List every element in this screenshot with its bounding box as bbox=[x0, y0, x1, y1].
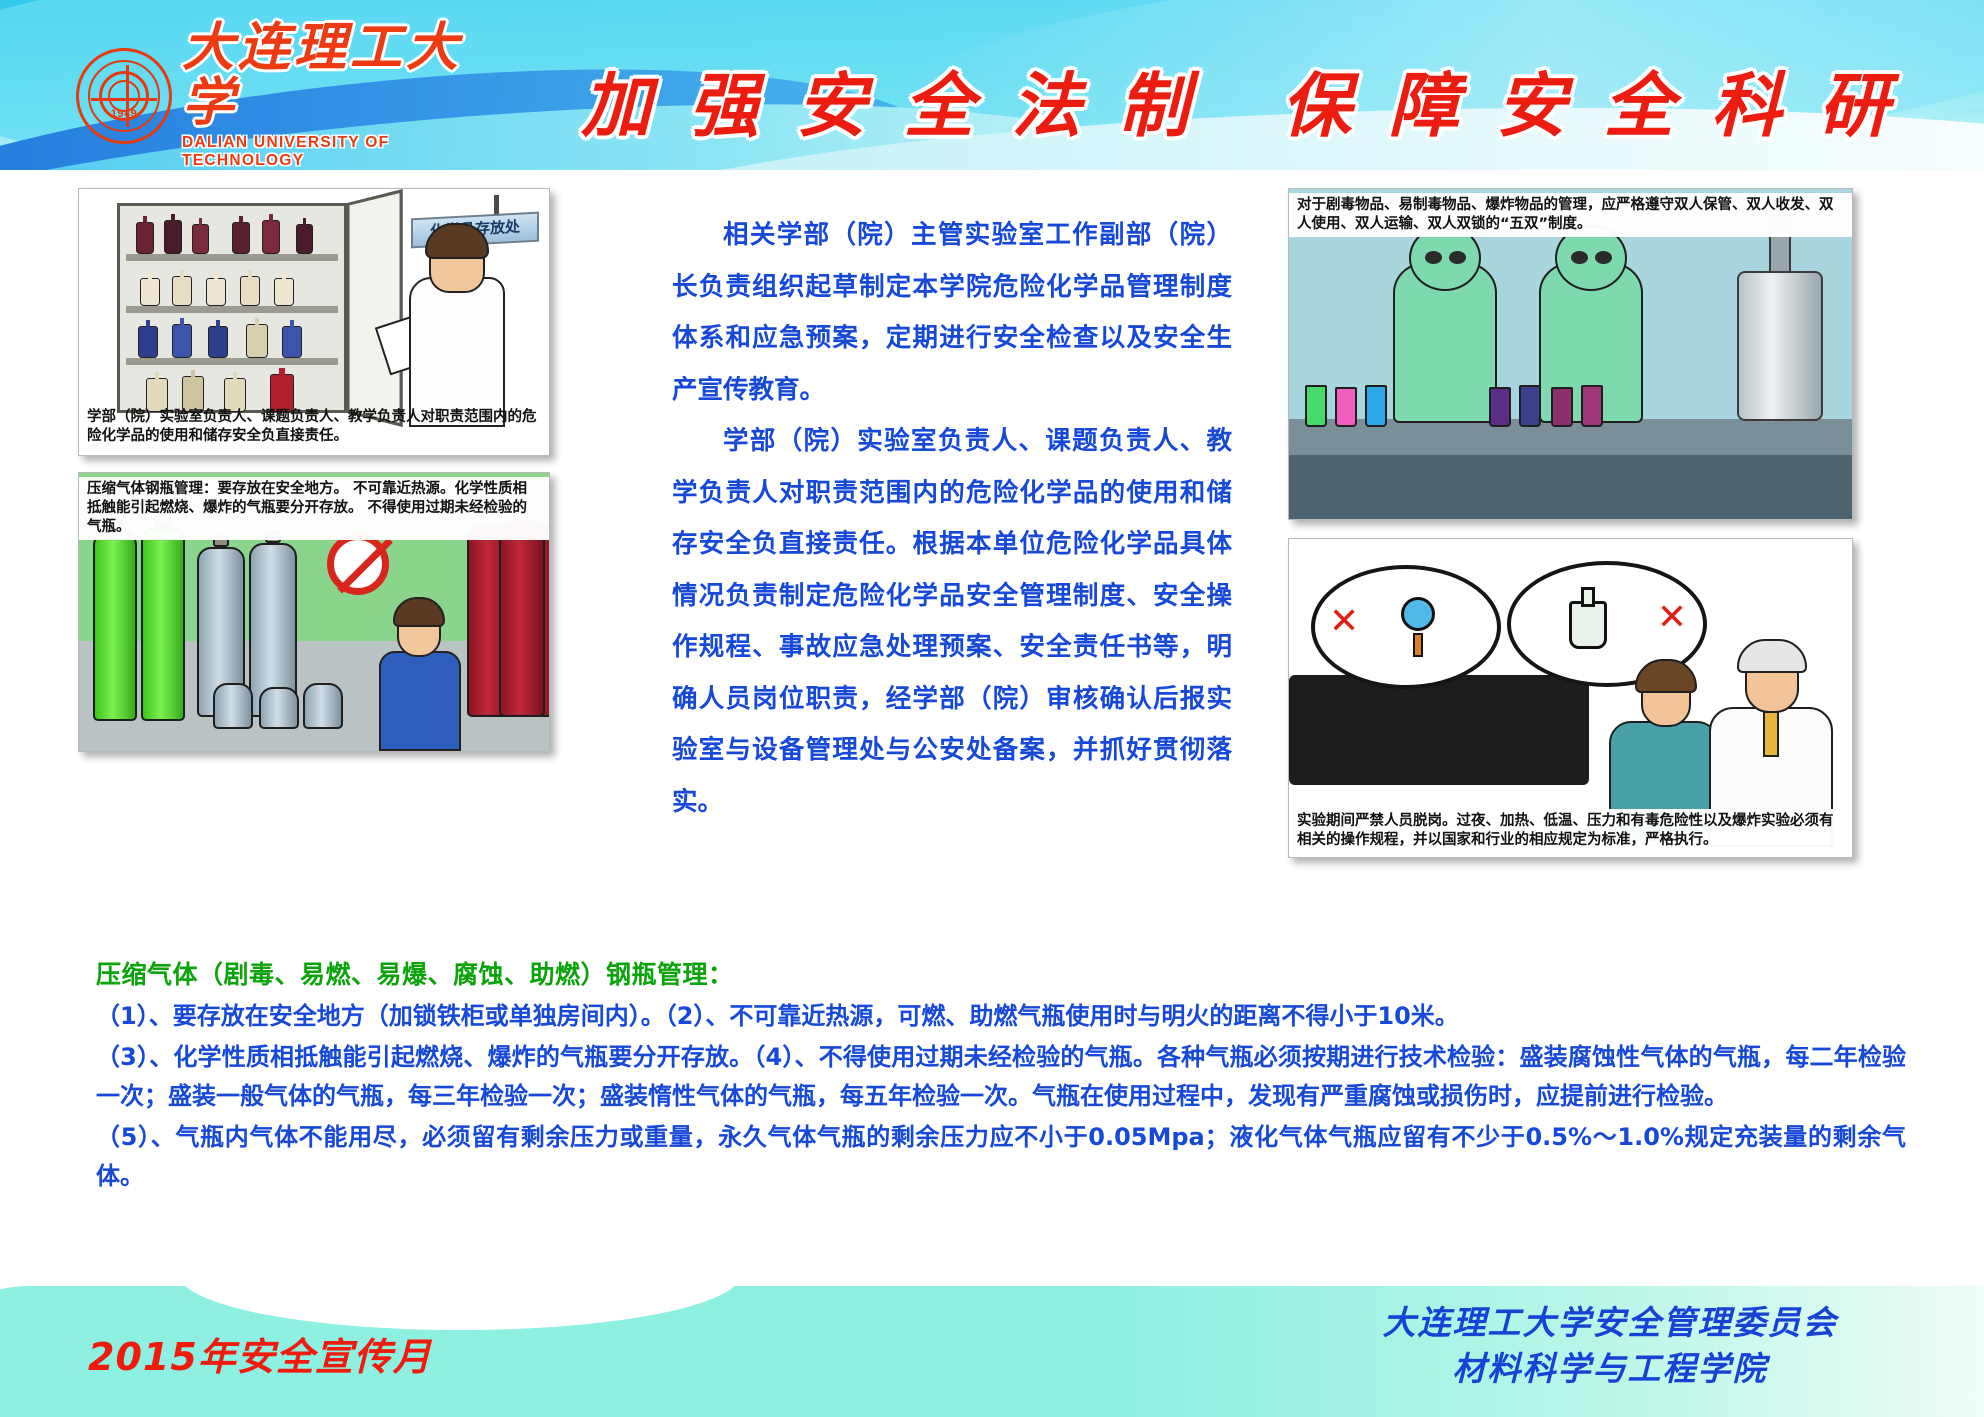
issuing-organization: 大连理工大学安全管理委员会 材料科学与工程学院 bbox=[1300, 1300, 1920, 1391]
illustration-gas-cylinders: 压缩气体钢瓶管理：要存放在安全地方。 不可靠近热源。化学性质相抵触能引起燃烧、爆… bbox=[78, 472, 550, 752]
university-name-cn: 大连理工大学 bbox=[182, 22, 476, 131]
unattended-panel-caption: 实验期间严禁人员脱岗。过夜、加热、低温、压力和有毒危险性以及爆炸实验必须有相关的… bbox=[1289, 809, 1852, 853]
vial-green bbox=[1305, 385, 1327, 427]
university-logo: 1949 大连理工大学 DALIAN UNIVERSITY OF TECHNOL… bbox=[76, 42, 476, 150]
professor-tie-icon bbox=[1763, 711, 1779, 757]
illustration-chemical-cabinet: 化学品存放处 学部（院）实验室负责人、课题负责人、教学负责人对职责范围内的危险化… bbox=[78, 188, 550, 456]
cylinder-rule-paragraph-2: （3）、化学性质相抵触能引起燃烧、爆炸的气瓶要分开存放。（4）、不得使用过期未经… bbox=[96, 1038, 1906, 1116]
worker-body-icon bbox=[379, 651, 461, 751]
no-smoking-icon bbox=[327, 533, 389, 595]
cylinder-small-3 bbox=[303, 683, 343, 729]
cylinders-panel-caption: 压缩气体钢瓶管理：要存放在安全地方。 不可靠近热源。化学性质相抵触能引起燃烧、爆… bbox=[79, 477, 549, 540]
forbidden-x-left: ✕ bbox=[1329, 603, 1359, 639]
cylinder-small-1 bbox=[213, 683, 253, 729]
illustration-toxic-handling: 对于剧毒物品、易制毒物品、爆炸物品的管理，应严格遵守双人保管、双人收发、双人使用… bbox=[1288, 188, 1853, 520]
vial-navy bbox=[1519, 385, 1541, 427]
seal-year-label: 1949 bbox=[79, 108, 169, 120]
cabinet-body-icon bbox=[117, 203, 347, 413]
vial-purple bbox=[1489, 387, 1511, 427]
center-text-column: 相关学部（院）主管实验室工作副部（院）长负责组织起草制定本学院危险化学品管理制度… bbox=[672, 210, 1232, 828]
cabinet-panel-caption: 学部（院）实验室负责人、课题负责人、教学负责人对职责范围内的危险化学品的使用和储… bbox=[79, 405, 549, 449]
poster-main-title: 加 强 安 全 法 制 保 障 安 全 科 研 bbox=[540, 52, 1940, 148]
poster-footer: 2015年安全宣传月 大连理工大学安全管理委员会 材料科学与工程学院 bbox=[0, 1268, 1984, 1417]
university-name-en: DALIAN UNIVERSITY OF TECHNOLOGY bbox=[182, 134, 476, 170]
cabinet-door-icon bbox=[347, 189, 403, 427]
center-paragraph-2: 学部（院）实验室负责人、课题负责人、教学负责人对职责范围内的危险化学品的使用和储… bbox=[672, 416, 1232, 828]
cylinder-small-2 bbox=[259, 687, 299, 729]
vial-pink bbox=[1335, 387, 1357, 427]
cylinder-management-heading: 压缩气体（剧毒、易燃、易爆、腐蚀、助燃）钢瓶管理： bbox=[96, 955, 1906, 995]
vial-violet bbox=[1581, 385, 1603, 427]
organization-line-2: 材料科学与工程学院 bbox=[1300, 1346, 1920, 1392]
toxic-panel-caption: 对于剧毒物品、易制毒物品、爆炸物品的管理，应严格遵守双人保管、双人收发、双人使用… bbox=[1289, 193, 1852, 237]
center-paragraph-1: 相关学部（院）主管实验室工作副部（院）长负责组织起草制定本学院危险化学品管理制度… bbox=[672, 210, 1232, 416]
university-seal-icon: 1949 bbox=[76, 48, 172, 144]
bottom-text-block: 压缩气体（剧毒、易燃、易爆、腐蚀、助燃）钢瓶管理： （1）、要存放在安全地方（加… bbox=[96, 955, 1906, 1197]
thought-bubble-left: ✕ bbox=[1311, 565, 1501, 689]
reactor-tank-icon bbox=[1737, 271, 1823, 421]
dark-lab-bench-icon bbox=[1289, 675, 1589, 785]
cylinder-rule-paragraph-1: （1）、要存放在安全地方（加锁铁柜或单独房间内）。（2）、不可靠近热源，可燃、助… bbox=[96, 997, 1906, 1036]
illustration-unattended-experiment: ✕ ✕ 实验期间严禁人员脱岗。过夜、加热、低温、压力和有毒危险性以及爆炸实验必须… bbox=[1288, 538, 1853, 858]
cylinder-red-3 bbox=[499, 521, 545, 717]
top-banner: 1949 大连理工大学 DALIAN UNIVERSITY OF TECHNOL… bbox=[0, 0, 1984, 185]
vial-magenta bbox=[1551, 387, 1573, 427]
organization-line-1: 大连理工大学安全管理委员会 bbox=[1300, 1300, 1920, 1346]
cylinder-green-1 bbox=[93, 531, 137, 721]
cylinder-rule-paragraph-3: （5）、气瓶内气体不能用尽，必须留有剩余压力或重量，永久气体气瓶的剩余压力应不小… bbox=[96, 1118, 1906, 1196]
campaign-label: 2015年安全宣传月 bbox=[88, 1326, 432, 1381]
vial-blue bbox=[1365, 385, 1387, 427]
cylinder-green-2 bbox=[141, 527, 185, 721]
forbidden-x-right: ✕ bbox=[1657, 599, 1687, 635]
